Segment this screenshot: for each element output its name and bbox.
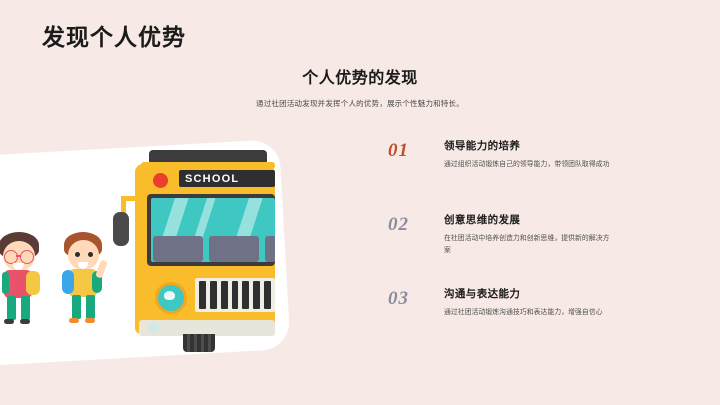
bus-bumper-light — [149, 323, 159, 333]
list-item-description: 通过组织活动锻炼自己的领导能力，带领团队取得成功 — [444, 159, 616, 171]
section-title: 个人优势的发现 — [200, 64, 520, 88]
list-item-description: 在社团活动中培养创造力和创新思维，提供新的解决方案 — [444, 233, 616, 256]
bus-warning-lamp — [151, 171, 170, 190]
center-heading-block: 个人优势的发现 通过社团活动发现并发挥个人的优势，展示个性魅力和特长。 — [200, 64, 520, 109]
bus-destination-sign: SCHOOL — [179, 170, 275, 187]
illustration-card: SCHOOL — [0, 139, 291, 367]
bus-side-mirror — [113, 212, 129, 246]
bus-glass — [151, 198, 275, 262]
bus-windshield — [147, 194, 275, 266]
list-item-description: 通过社团活动锻炼沟通技巧和表达能力，增强自信心 — [444, 307, 616, 319]
bus-front-wheel — [183, 334, 215, 352]
bus-grille — [195, 278, 275, 312]
bus-headlight — [155, 282, 187, 314]
section-subtitle: 通过社团活动发现并发挥个人的优势，展示个性魅力和特长。 — [200, 98, 520, 109]
strength-list: 01 领导能力的培养 通过组织活动锻炼自己的领导能力，带领团队取得成功 02 创… — [388, 138, 688, 360]
bus-roof-stripe — [141, 162, 275, 169]
list-item[interactable]: 01 领导能力的培养 通过组织活动锻炼自己的领导能力，带领团队取得成功 — [388, 138, 688, 190]
child-illustration-waving — [60, 232, 116, 332]
child-illustration-glasses — [0, 232, 50, 332]
slide-canvas: 发现个人优势 个人优势的发现 通过社团活动发现并发挥个人的优势，展示个性魅力和特… — [0, 0, 720, 405]
illustration-inner: SCHOOL — [0, 148, 285, 358]
list-item-title: 领导能力的培养 — [444, 138, 688, 153]
list-item-title: 创意思维的发展 — [444, 212, 688, 227]
school-bus: SCHOOL — [135, 150, 275, 350]
list-item[interactable]: 03 沟通与表达能力 通过社团活动锻炼沟通技巧和表达能力，增强自信心 — [388, 286, 688, 338]
page-title: 发现个人优势 — [42, 26, 186, 49]
list-item[interactable]: 02 创意思维的发展 在社团活动中培养创造力和创新思维，提供新的解决方案 — [388, 212, 688, 264]
list-item-number: 02 — [388, 214, 434, 236]
list-item-title: 沟通与表达能力 — [444, 286, 688, 301]
list-item-number: 03 — [388, 288, 434, 310]
list-item-number: 01 — [388, 140, 434, 162]
